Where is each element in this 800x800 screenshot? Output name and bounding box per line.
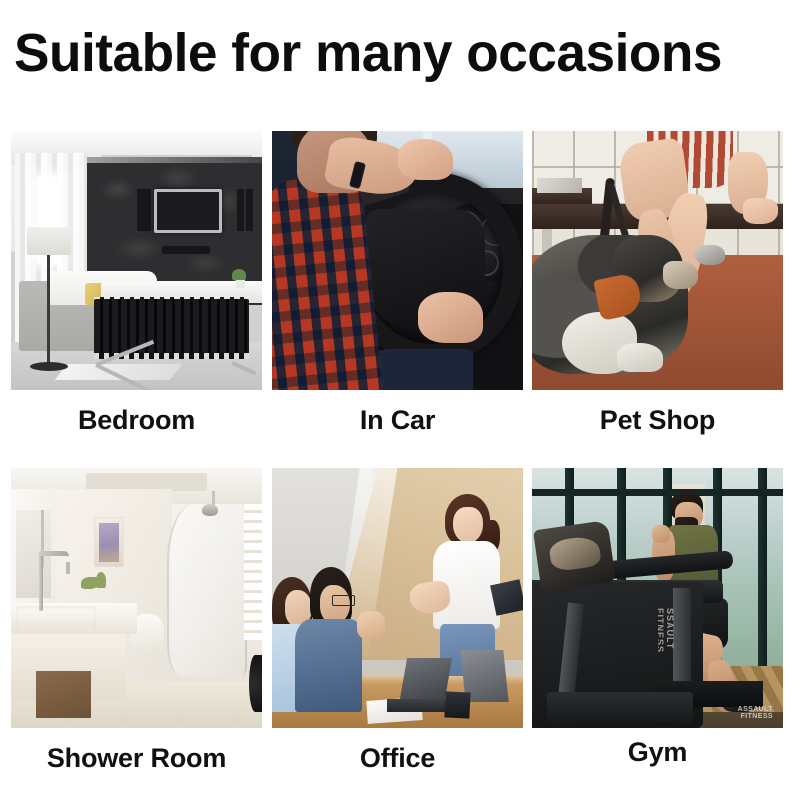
attendee-2-hand: [357, 611, 385, 640]
grid-row-1: Bedroom: [11, 131, 789, 436]
presenter-folder: [490, 580, 523, 617]
presenter-face: [453, 507, 483, 543]
black-slatted-bench: [94, 299, 250, 357]
magazines: [537, 178, 582, 194]
brand-line-1: ASSAULT: [738, 706, 773, 713]
speaker: [144, 189, 151, 231]
occasion-caption: Gym: [532, 728, 783, 768]
occasion-cell-gym[interactable]: SSAULT FITNESS ASSAULT FITNESS Gym: [532, 468, 783, 768]
driver-lap: [372, 349, 472, 390]
owner-hand: [743, 198, 778, 224]
speaker: [246, 189, 253, 231]
driver-lower-hand: [418, 292, 483, 344]
occasion-caption: Office: [272, 728, 523, 774]
occasion-cell-bedroom[interactable]: Bedroom: [11, 131, 262, 436]
brand-line-2: FITNESS: [738, 713, 773, 720]
window-transom: [532, 489, 783, 496]
sneaker: [695, 245, 725, 265]
product-feature-panel: Suitable for many occasions: [0, 0, 800, 800]
page-title: Suitable for many occasions: [14, 22, 774, 84]
faucet-arm: [39, 551, 69, 556]
lamp-pole: [47, 255, 50, 365]
trough-basin: [16, 606, 96, 629]
occasion-caption: Shower Room: [11, 728, 262, 774]
pet-shop-photo: [532, 131, 783, 390]
window-blind: [244, 504, 262, 639]
dog-snout: [663, 261, 698, 289]
occasion-caption: Bedroom: [11, 390, 262, 436]
faucet-stem: [39, 554, 43, 611]
plant: [96, 572, 106, 588]
speaker: [137, 189, 144, 231]
faucet-spout: [66, 562, 70, 574]
occasion-cell-shower-room[interactable]: Shower Room: [11, 468, 262, 774]
television: [154, 189, 222, 233]
grid-row-2: Shower Room: [11, 468, 789, 773]
lamp-shade: [27, 227, 71, 255]
glasses-icon: [332, 595, 355, 605]
window-mullion: [758, 468, 767, 671]
attendee-2-shirt: [295, 619, 363, 713]
lamp-base: [30, 362, 68, 371]
in-car-photo: [272, 131, 523, 390]
foreground-object: [249, 655, 262, 712]
dog-paw: [617, 343, 662, 371]
shower-room-photo: [11, 468, 262, 728]
vanity-wood-panel: [36, 671, 91, 718]
shower-tray: [167, 650, 247, 671]
treadmill-brand-badge: ASSAULT FITNESS: [738, 706, 773, 720]
speaker: [237, 189, 244, 231]
occasion-caption: Pet Shop: [532, 390, 783, 436]
occasion-caption: In Car: [272, 390, 523, 436]
plant-pot: [236, 280, 245, 288]
occasion-cell-office[interactable]: Office: [272, 468, 523, 774]
laptop-base: [387, 699, 452, 712]
laptop: [398, 658, 451, 705]
runner-fist: [652, 525, 670, 543]
office-photo: [272, 468, 523, 728]
gym-photo: SSAULT FITNESS ASSAULT FITNESS: [532, 468, 783, 728]
occasion-cell-pet-shop[interactable]: Pet Shop: [532, 131, 783, 436]
treadmill-brand-vertical: SSAULT FITNESS: [658, 608, 676, 696]
phone: [445, 691, 471, 718]
driver-upper-hand: [398, 139, 453, 180]
occasions-grid: Bedroom: [11, 131, 789, 781]
soundbar: [162, 246, 210, 254]
artwork-canvas: [99, 523, 119, 562]
occasion-cell-in-car[interactable]: In Car: [272, 131, 523, 436]
shower-head: [202, 504, 218, 516]
bedroom-photo: [11, 131, 262, 390]
